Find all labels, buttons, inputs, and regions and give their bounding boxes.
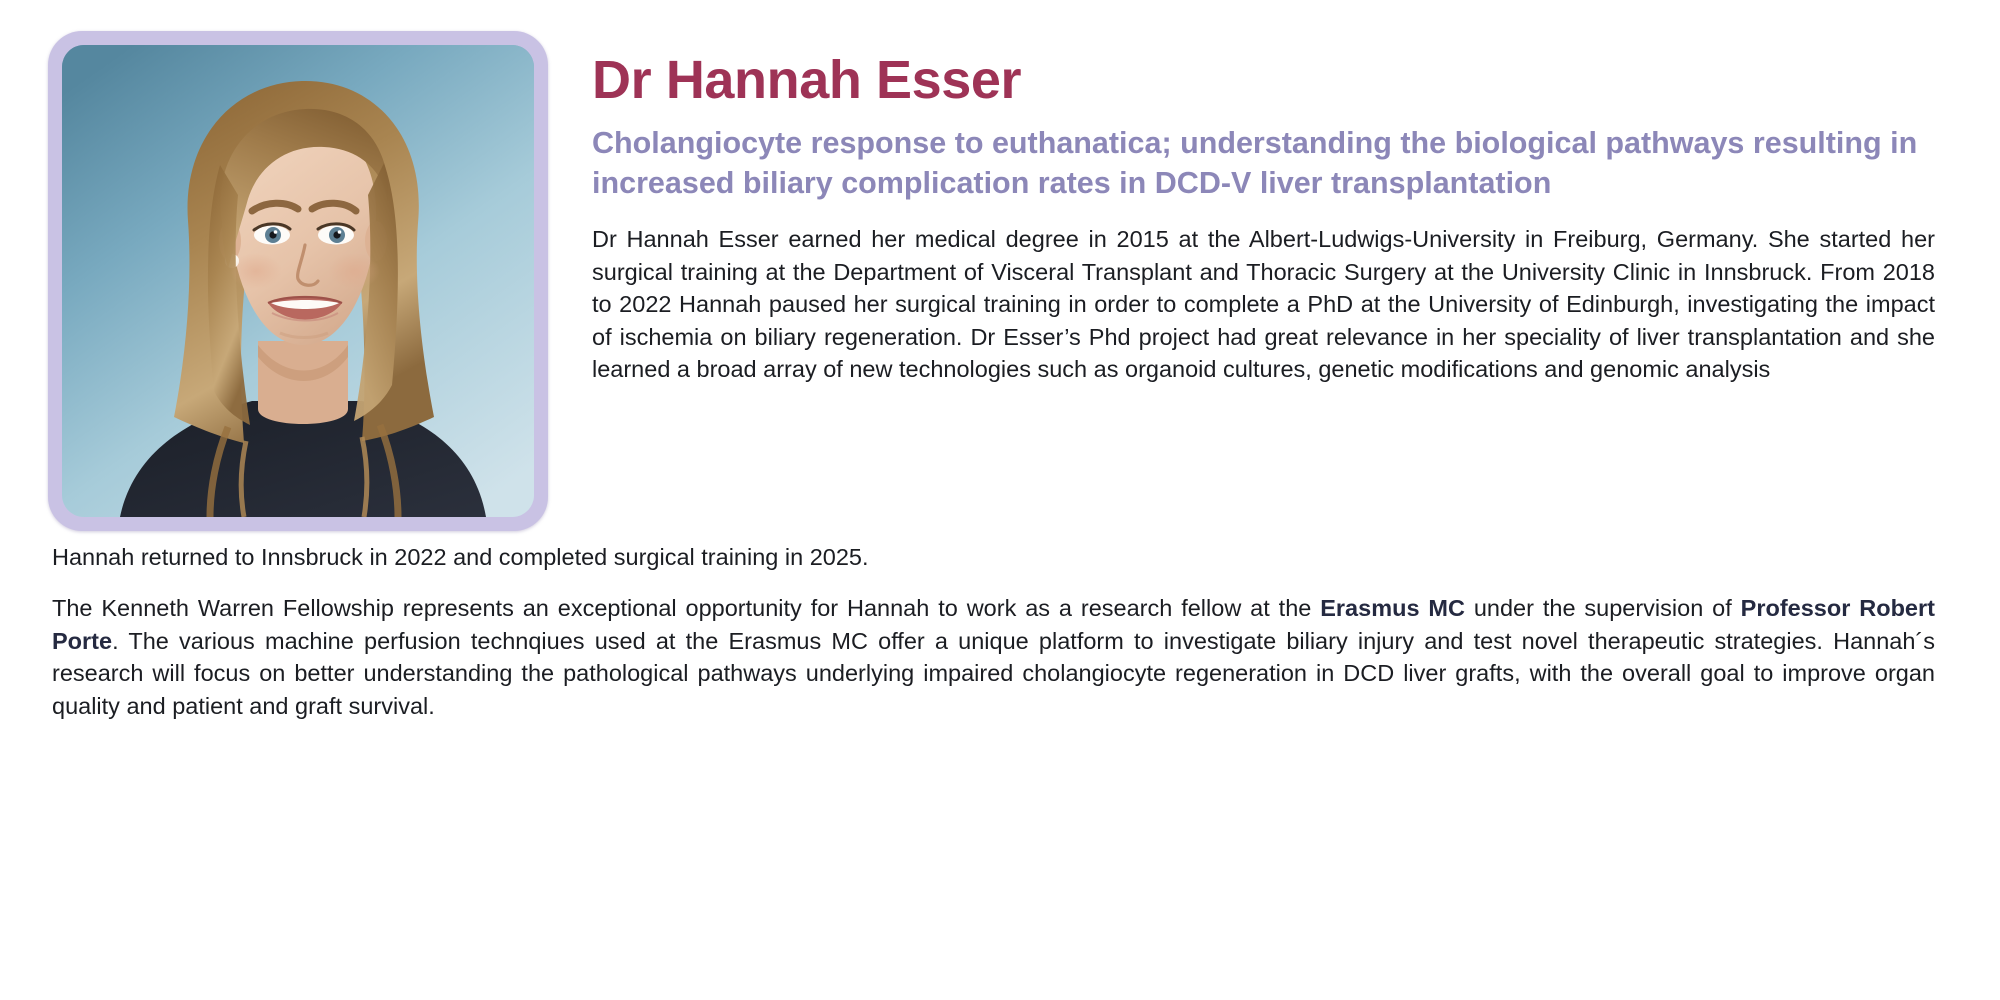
portrait-photo bbox=[62, 45, 534, 517]
biography-paragraph-2: Hannah returned to Innsbruck in 2022 and… bbox=[52, 541, 1935, 573]
erasmus-mc-emphasis: Erasmus MC bbox=[1320, 595, 1465, 621]
fellowship-text-segment-3: . The various machine perfusion technqiu… bbox=[52, 628, 1935, 719]
fellowship-text-segment-2: under the supervision of bbox=[1465, 595, 1741, 621]
profile-page: Dr Hannah Esser Cholangiocyte response t… bbox=[0, 0, 2000, 1000]
portrait-frame bbox=[48, 31, 548, 531]
fellowship-text-segment-1: The Kenneth Warren Fellowship represents… bbox=[52, 595, 1320, 621]
biography-paragraph-3: The Kenneth Warren Fellowship represents… bbox=[52, 592, 1935, 722]
portrait-illustration bbox=[62, 45, 534, 517]
